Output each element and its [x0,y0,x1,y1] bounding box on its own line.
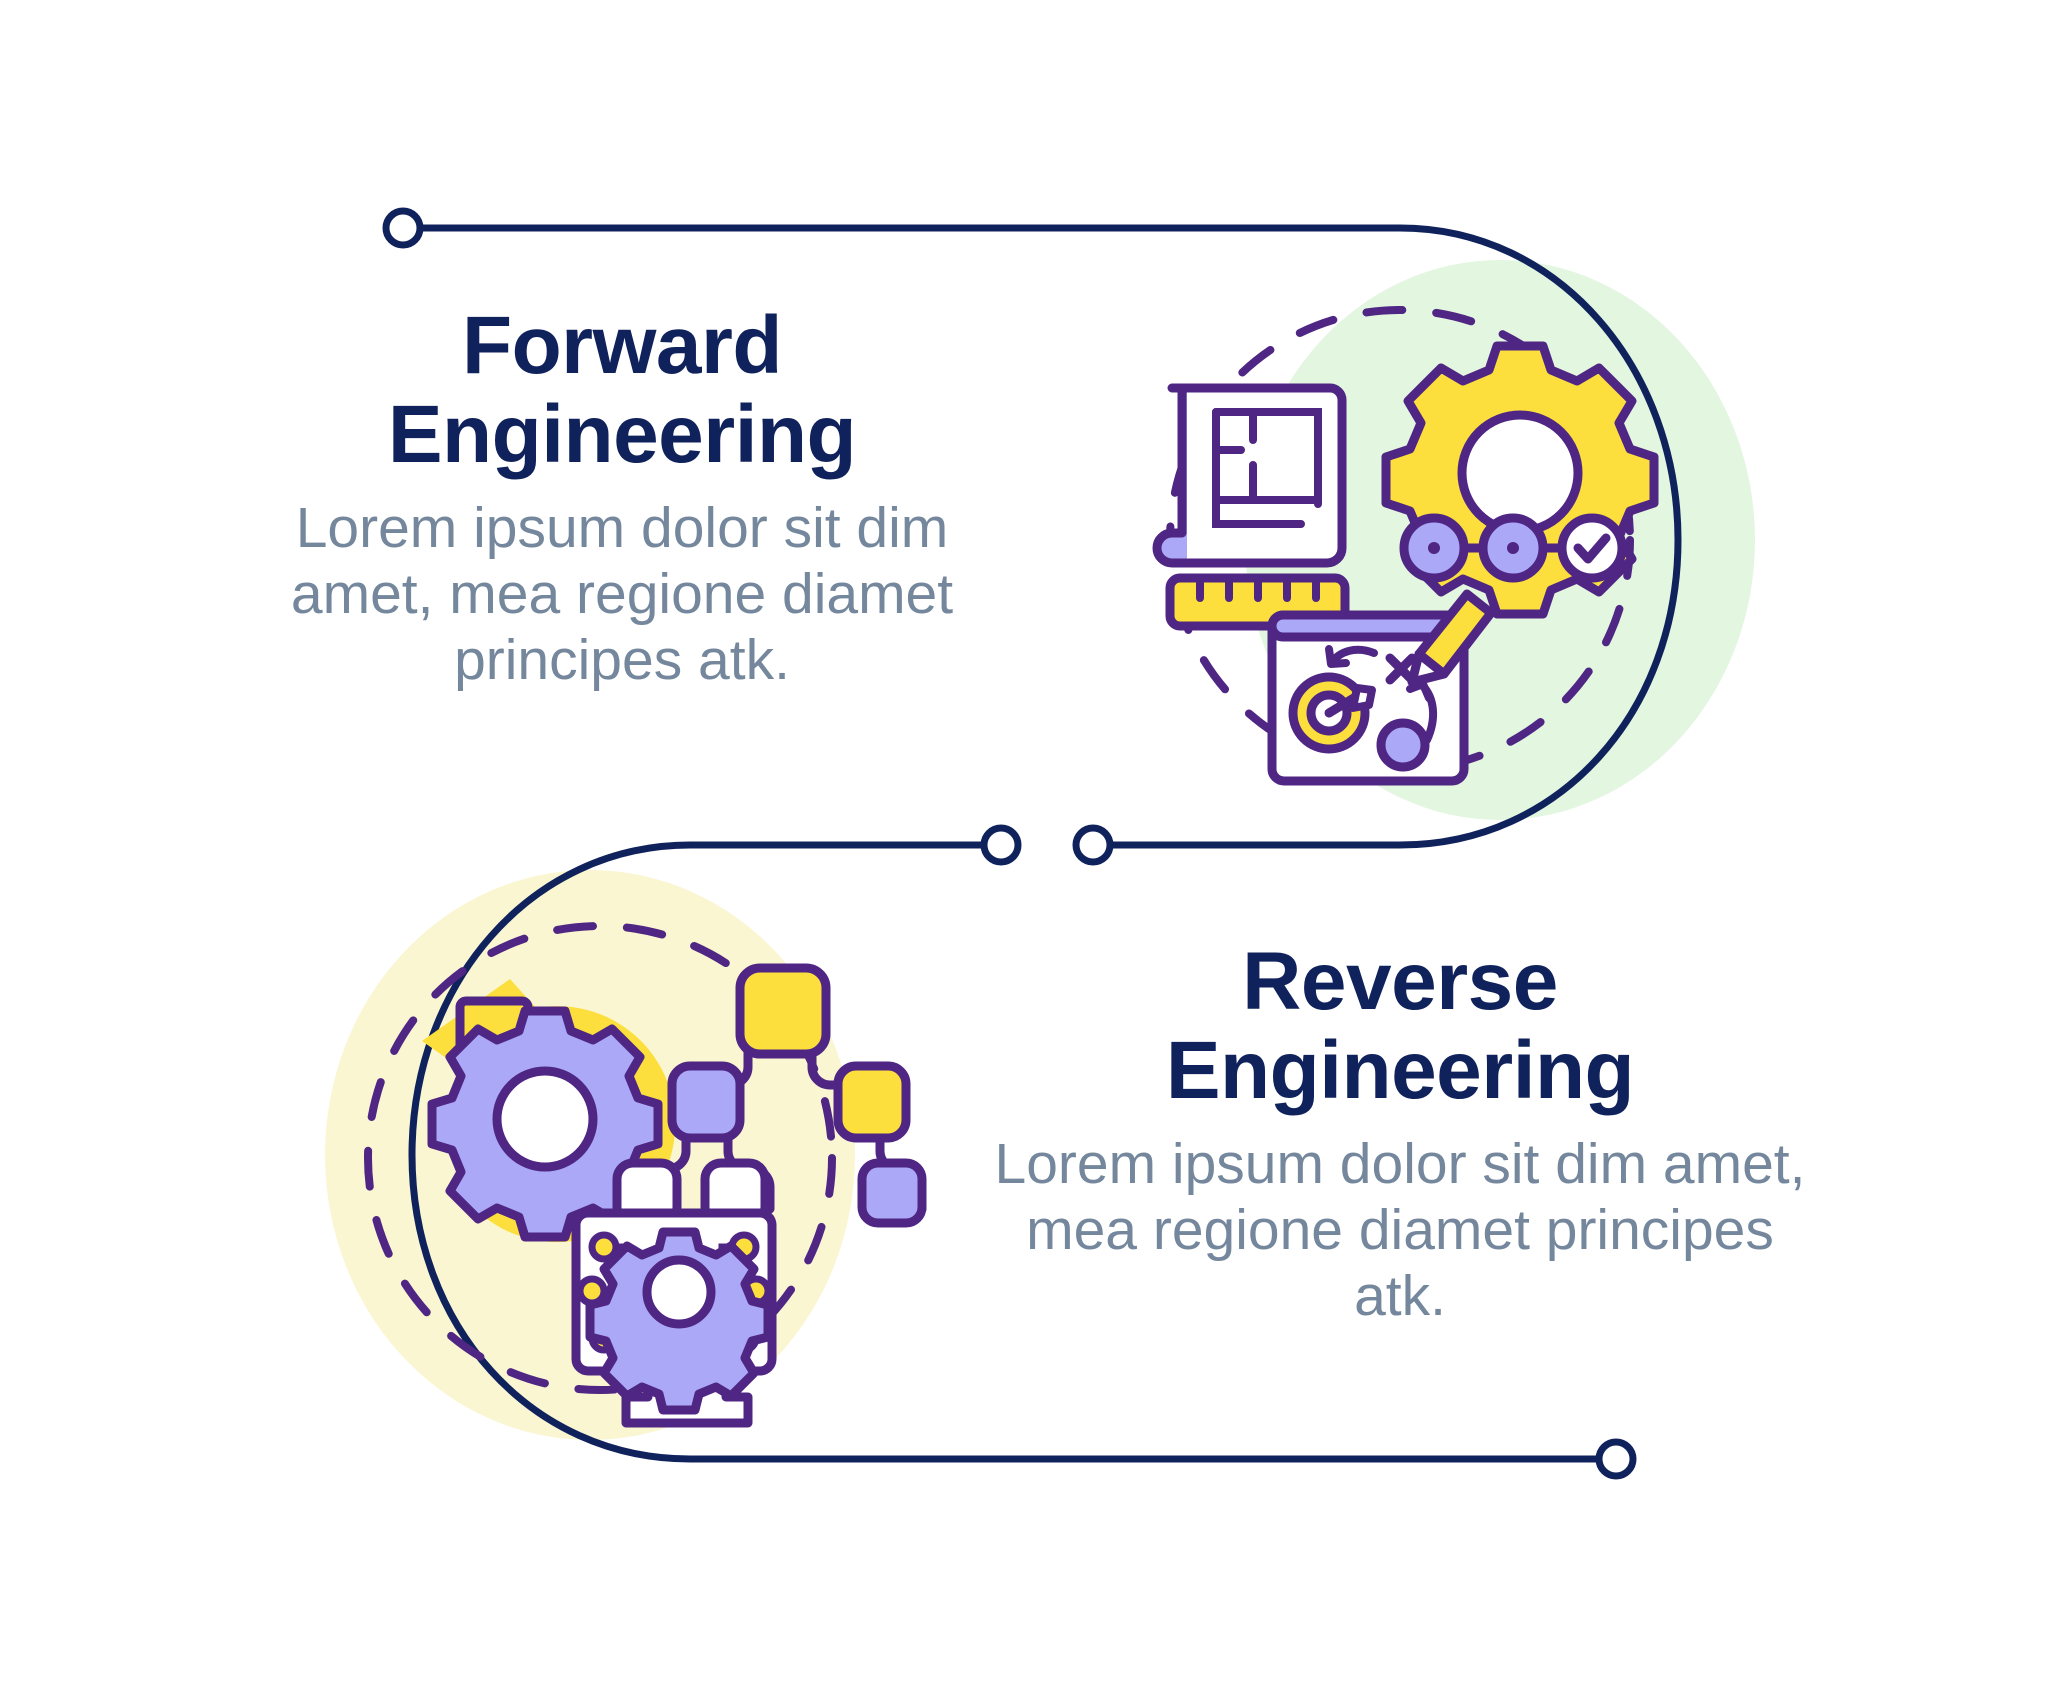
connector-node-start[interactable] [386,211,420,245]
forward-engineering-body: Lorem ipsum dolor sit dim amet, mea regi… [222,495,1022,693]
connector-node-mid-right[interactable] [1076,828,1110,862]
reverse-title-line1: Reverse [1242,936,1558,1027]
strategy-board-icon [1272,594,1491,781]
forward-engineering-text-block: Forward Engineering Lorem ipsum dolor si… [222,302,1022,693]
board-dot-icon [1381,723,1425,767]
infographic-canvas: Forward Engineering Lorem ipsum dolor si… [0,0,2048,1689]
forward-title-line2: Engineering [388,389,856,480]
forward-title-line1: Forward [462,300,782,391]
reverse-title-line2: Engineering [1166,1025,1634,1116]
reverse-engineering-body: Lorem ipsum dolor sit dim amet, mea regi… [990,1131,1810,1329]
reverse-engineering-text-block: Reverse Engineering Lorem ipsum dolor si… [990,938,1810,1329]
infographic-graphics [0,0,2048,1689]
reverse-engineering-title: Reverse Engineering [990,938,1810,1115]
connector-node-mid-left[interactable] [984,828,1018,862]
blueprint-icon [1157,388,1342,563]
checkmark-circle-icon [1562,518,1622,578]
target-icon [1293,677,1372,749]
connector-node-end[interactable] [1599,1442,1633,1476]
forward-engineering-title: Forward Engineering [222,302,1022,479]
